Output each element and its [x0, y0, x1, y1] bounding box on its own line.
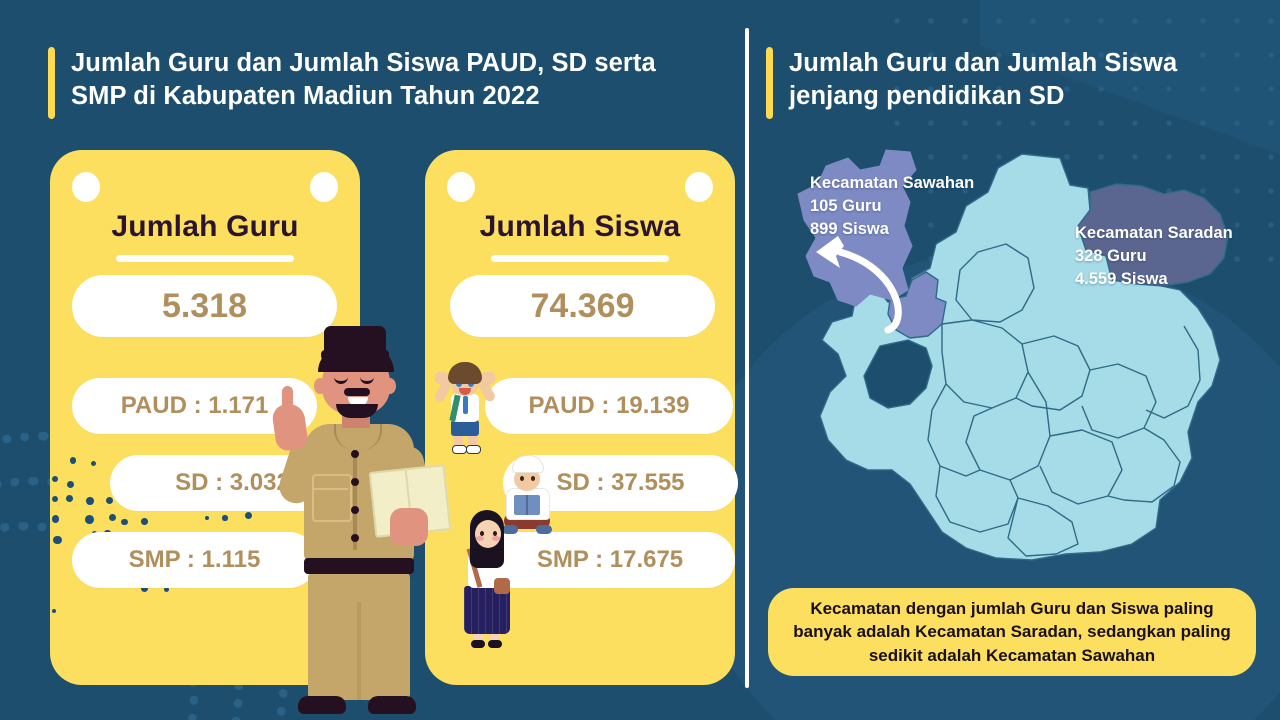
right-title-text: Jumlah Guru dan Jumlah Siswa jenjang pen…	[789, 47, 1236, 112]
stat-siswa-total: 74.369	[450, 275, 715, 337]
teacher-illustration	[268, 312, 448, 720]
student-paud-illustration	[432, 360, 498, 452]
label-sawahan-teachers: 105 Guru	[810, 195, 974, 218]
map-label-saradan: Kecamatan Saradan 328 Guru 4.559 Siswa	[1075, 222, 1233, 290]
right-panel-title: Jumlah Guru dan Jumlah Siswa jenjang pen…	[766, 47, 1236, 119]
stat-siswa-smp: SMP : 17.675	[485, 532, 735, 588]
left-title-text: Jumlah Guru dan Jumlah Siswa PAUD, SD se…	[71, 47, 708, 112]
label-saradan-teachers: 328 Guru	[1075, 245, 1233, 268]
panel-divider	[745, 28, 749, 688]
card-hole-left	[447, 172, 475, 202]
card-hole-right	[685, 172, 713, 202]
summary-note: Kecamatan dengan jumlah Guru dan Siswa p…	[768, 588, 1256, 676]
label-saradan-name: Kecamatan Saradan	[1075, 222, 1233, 245]
title-accent-bar	[766, 47, 773, 119]
infographic-canvas: Jumlah Guru dan Jumlah Siswa PAUD, SD se…	[0, 0, 1280, 720]
label-saradan-students: 4.559 Siswa	[1075, 268, 1233, 291]
card-hole-left	[72, 172, 100, 202]
card-guru-underline	[116, 255, 294, 262]
card-siswa-underline	[491, 255, 669, 262]
card-siswa-heading: Jumlah Siswa	[425, 210, 735, 244]
title-accent-bar	[48, 47, 55, 119]
stat-siswa-paud: PAUD : 19.139	[485, 378, 733, 434]
left-panel-title: Jumlah Guru dan Jumlah Siswa PAUD, SD se…	[48, 47, 708, 119]
card-guru-heading: Jumlah Guru	[50, 210, 360, 244]
label-sawahan-students: 899 Siswa	[810, 218, 974, 241]
map-label-sawahan: Kecamatan Sawahan 105 Guru 899 Siswa	[810, 172, 974, 240]
card-hole-right	[310, 172, 338, 202]
student-smp-illustration	[458, 510, 516, 650]
label-sawahan-name: Kecamatan Sawahan	[810, 172, 974, 195]
